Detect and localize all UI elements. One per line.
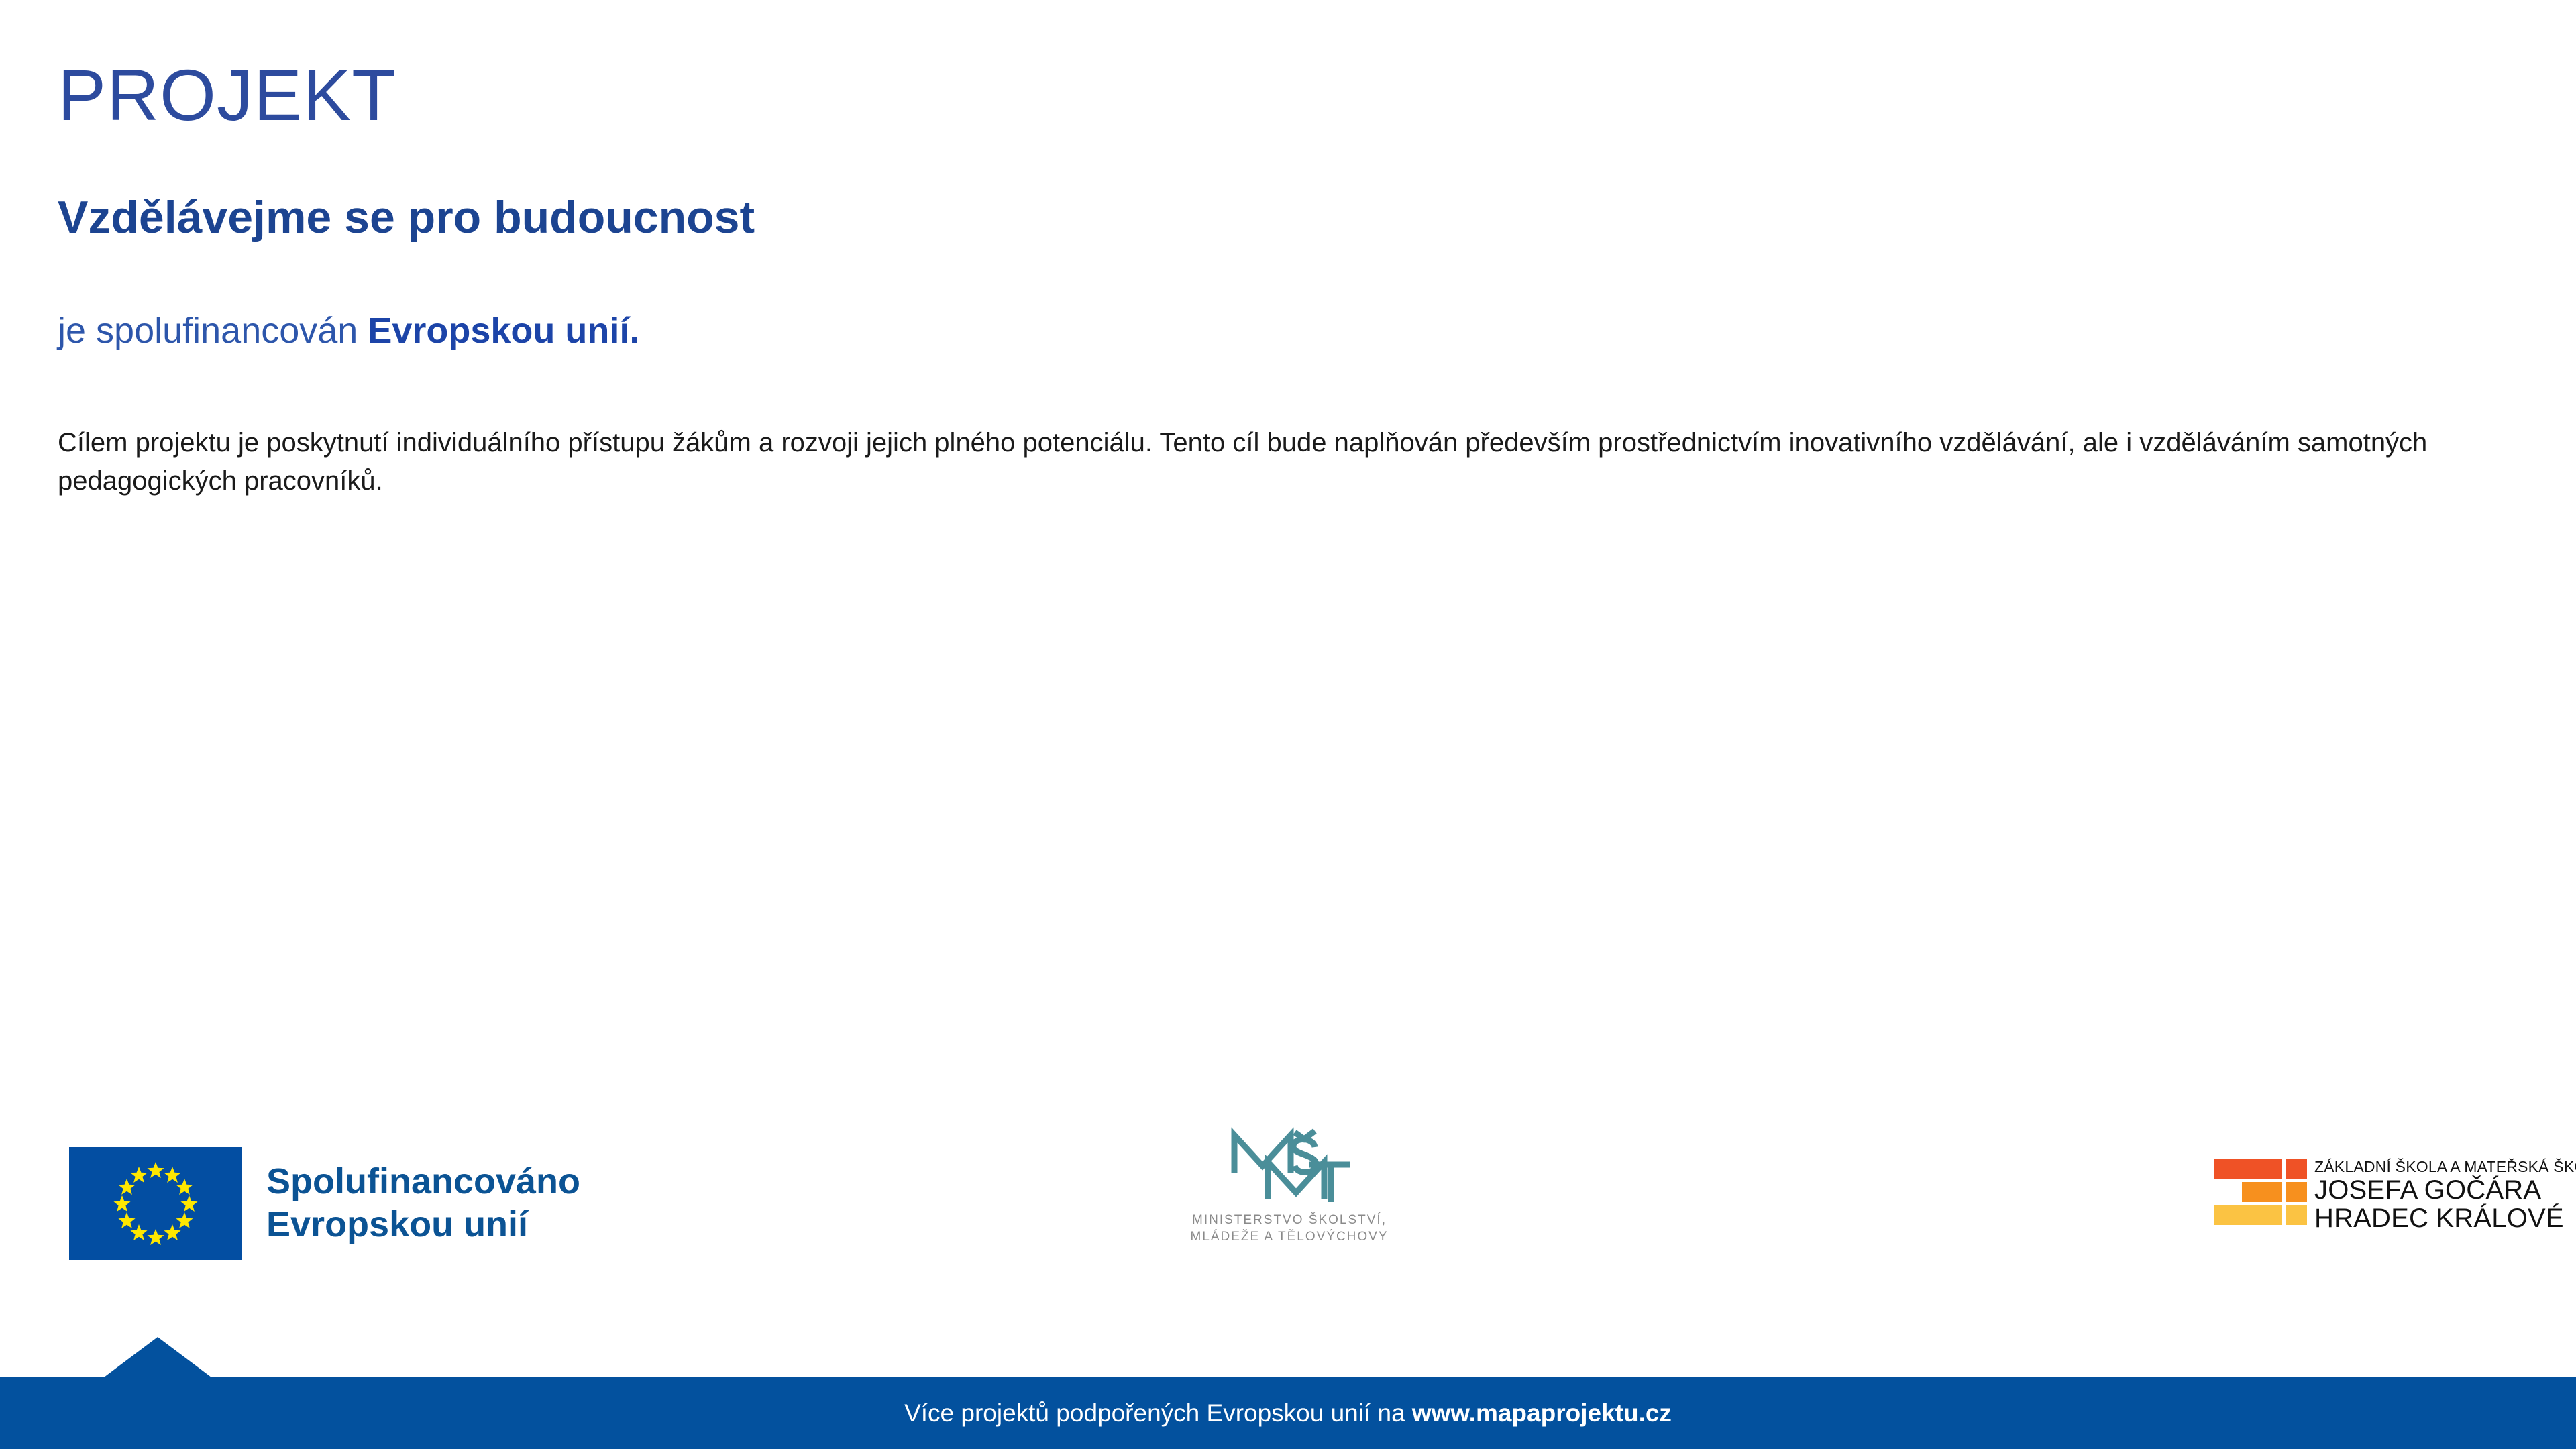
page-title: PROJEKT: [58, 59, 396, 131]
school-logo-text: ZÁKLADNÍ ŠKOLA A MATEŘSKÁ ŠKOLA JOSEFA G…: [2314, 1158, 2576, 1232]
eu-star-icon: [163, 1223, 182, 1242]
school-bar-orange-square: [2286, 1182, 2307, 1202]
footer-text: Více projektů podpořených Evropskou unií…: [0, 1377, 2576, 1449]
school-bar-yellow-long: [2214, 1205, 2282, 1225]
funding-statement-prefix: je spolufinancován: [58, 311, 368, 351]
footer-text-label: Více projektů podpořených Evropskou unií…: [904, 1399, 1405, 1428]
school-logo-bars-icon: [2214, 1158, 2309, 1225]
footer-url-link[interactable]: www.mapaprojektu.cz: [1412, 1399, 1672, 1428]
school-logo-line-2: JOSEFA GOČÁRA: [2314, 1176, 2576, 1204]
msmt-caption: MINISTERSTVO ŠKOLSTVÍ, MLÁDEŽE A TĚLOVÝC…: [1182, 1212, 1397, 1245]
eu-flag-icon: [69, 1147, 242, 1260]
school-bar-red-long: [2214, 1159, 2282, 1179]
eu-star-icon: [113, 1194, 131, 1213]
school-bar-red-square: [2286, 1159, 2307, 1179]
funding-statement: je spolufinancován Evropskou unií.: [58, 313, 639, 349]
eu-star-icon: [117, 1211, 136, 1230]
msmt-caption-line-2: MLÁDEŽE A TĚLOVÝCHOVY: [1182, 1228, 1397, 1245]
eu-logo-text-line-2: Evropskou unií: [266, 1203, 580, 1246]
school-bar-yellow-square: [2286, 1205, 2307, 1225]
eu-logo-text-line-1: Spolufinancováno: [266, 1161, 580, 1203]
footer-notch-triangle: [104, 1337, 211, 1377]
funding-statement-emphasis: Evropskou unií.: [368, 311, 639, 351]
project-description-paragraph: Cílem projektu je poskytnutí individuáln…: [58, 424, 2526, 500]
project-name-heading: Vzdělávejme se pro budoucnost: [58, 195, 755, 240]
school-bar-orange-long: [2242, 1182, 2282, 1202]
school-logo-line-1: ZÁKLADNÍ ŠKOLA A MATEŘSKÁ ŠKOLA: [2314, 1158, 2576, 1176]
eu-star-icon: [180, 1194, 199, 1213]
eu-star-icon: [146, 1228, 165, 1246]
msmt-monogram-icon: [1182, 1124, 1397, 1205]
eu-logo-text: Spolufinancováno Evropskou unií: [266, 1161, 580, 1246]
msmt-caption-line-1: MINISTERSTVO ŠKOLSTVÍ,: [1182, 1212, 1397, 1228]
msmt-ministry-logo: MINISTERSTVO ŠKOLSTVÍ, MLÁDEŽE A TĚLOVÝC…: [1182, 1124, 1397, 1245]
eu-cofunding-logo: Spolufinancováno Evropskou unií: [69, 1147, 580, 1260]
eu-star-icon: [146, 1161, 165, 1179]
eu-star-icon: [129, 1165, 148, 1184]
eu-star-icon: [175, 1177, 194, 1196]
school-logo-line-3: HRADEC KRÁLOVÉ: [2314, 1204, 2576, 1232]
school-logo: ZÁKLADNÍ ŠKOLA A MATEŘSKÁ ŠKOLA JOSEFA G…: [2214, 1158, 2576, 1232]
